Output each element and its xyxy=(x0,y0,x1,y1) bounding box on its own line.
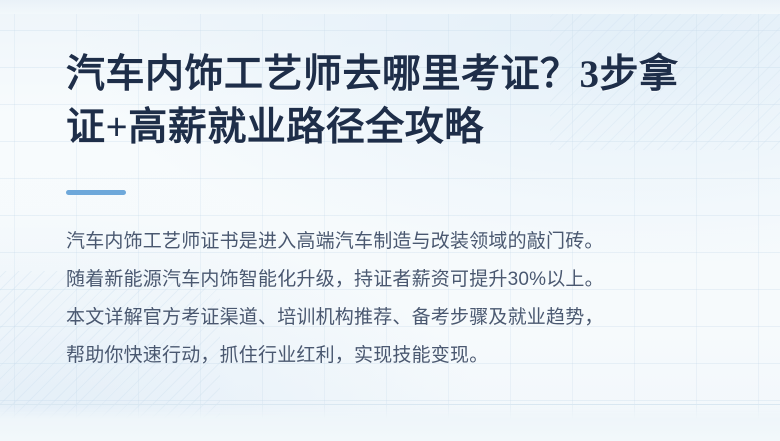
summary-line-3: 本文详解官方考证渠道、培训机构推荐、备考步骤及就业趋势， xyxy=(66,299,718,337)
page-title-line-1: 汽车内饰工艺师去哪里考证？3步拿 xyxy=(66,48,718,101)
page-title-line-2: 证+高薪就业路径全攻略 xyxy=(66,101,718,154)
page-title: 汽车内饰工艺师去哪里考证？3步拿 证+高薪就业路径全攻略 xyxy=(66,48,718,154)
summary-line-2: 随着新能源汽车内饰智能化升级，持证者薪资可提升30%以上。 xyxy=(66,261,718,299)
article-cover-card: 汽车内饰工艺师去哪里考证？3步拿 证+高薪就业路径全攻略 汽车内饰工艺师证书是进… xyxy=(0,0,780,441)
cover-summary-text: 汽车内饰工艺师证书是进入高端汽车制造与改装领域的敲门砖。 随着新能源汽车内饰智能… xyxy=(66,223,718,375)
accent-divider-bar xyxy=(66,190,126,195)
summary-line-4: 帮助你快速行动，抓住行业红利，实现技能变现。 xyxy=(66,337,718,375)
summary-line-1: 汽车内饰工艺师证书是进入高端汽车制造与改装领域的敲门砖。 xyxy=(66,223,718,261)
background-bottom-band xyxy=(0,404,780,441)
cover-content: 汽车内饰工艺师去哪里考证？3步拿 证+高薪就业路径全攻略 汽车内饰工艺师证书是进… xyxy=(0,0,780,375)
